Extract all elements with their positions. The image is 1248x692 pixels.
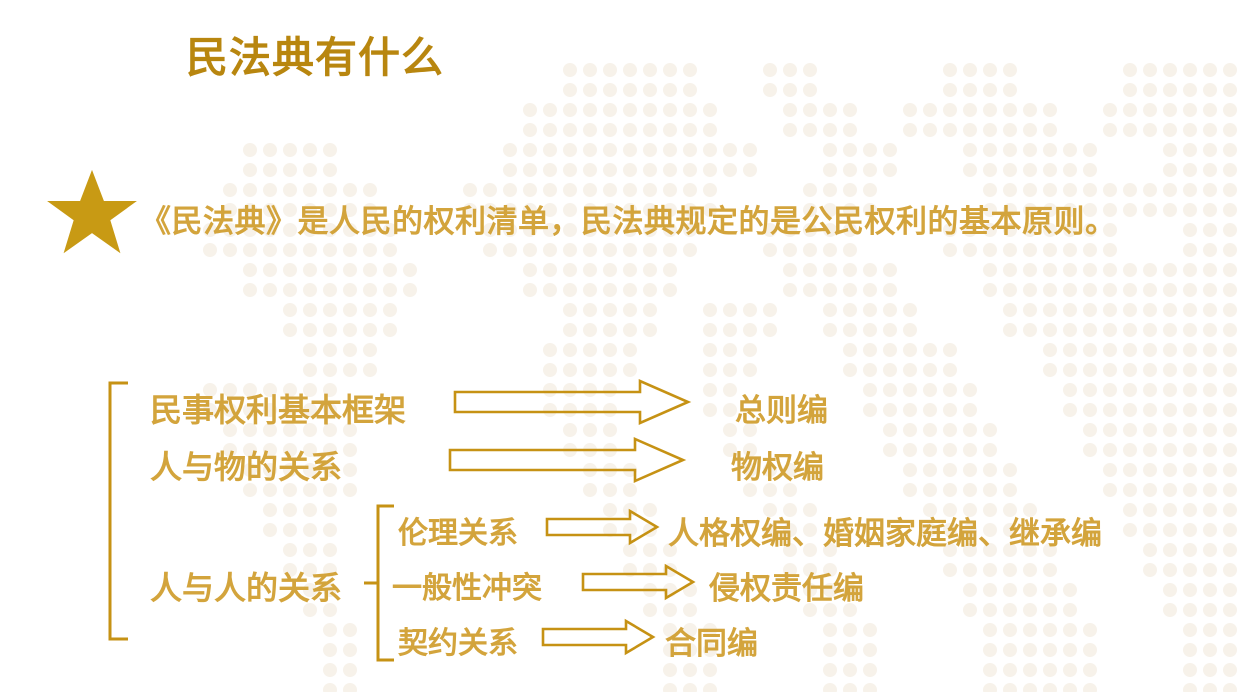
node-branch-source-2: 一般性冲突 <box>392 563 542 607</box>
outer-left-bracket <box>104 380 134 642</box>
node-target-2: 物权编 <box>731 442 824 487</box>
arrow-right-icon-2 <box>447 436 687 484</box>
node-branch-target-1: 人格权编、婚姻家庭编、继承编 <box>668 508 1102 553</box>
arrow-right-icon-5 <box>540 618 656 656</box>
node-source-1: 民事权利基本框架 <box>150 385 406 431</box>
arrow-right-icon-4 <box>580 563 696 601</box>
node-branch-target-3: 合同编 <box>665 618 758 663</box>
node-branch-source-3: 契约关系 <box>398 618 518 662</box>
arrow-right-icon-3 <box>544 508 660 546</box>
node-source-2: 人与物的关系 <box>150 442 342 488</box>
node-target-1: 总则编 <box>735 385 828 430</box>
node-group-label: 人与人的关系 <box>150 563 342 609</box>
relationship-diagram: 民事权利基本框架 总则编 人与物的关系 物权编 人与人的关系 伦理关系 人格权编… <box>0 0 1248 692</box>
node-branch-target-2: 侵权责任编 <box>709 563 864 608</box>
slide-canvas: 民法典有什么 《民法典》是人民的权利清单，民法典规定的是公民权利的基本原则。 民… <box>0 0 1248 692</box>
node-branch-source-1: 伦理关系 <box>398 508 518 552</box>
arrow-right-icon-1 <box>452 378 692 426</box>
